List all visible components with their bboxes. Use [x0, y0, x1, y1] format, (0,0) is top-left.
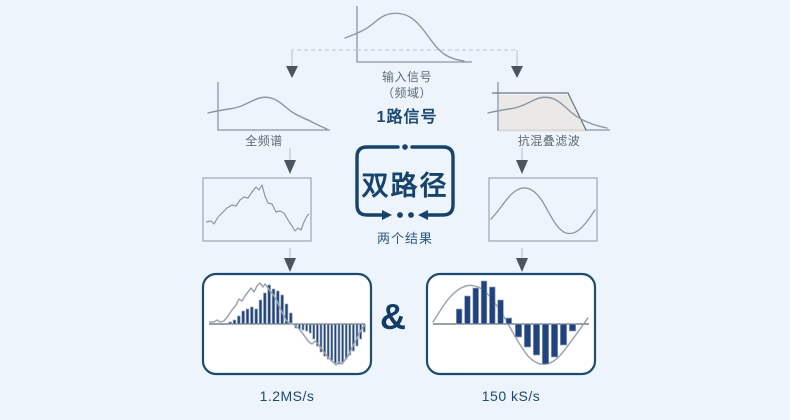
- badge-dot-2: [408, 212, 414, 218]
- noisy-waveform-box: [203, 178, 311, 241]
- low-rate-sampling-panel: [427, 274, 595, 374]
- arrow-to-right-box: [516, 148, 528, 174]
- low-rate-label: 150 kS/s: [441, 388, 581, 404]
- badge-dot-1: [397, 212, 403, 218]
- sample-bar: [263, 293, 266, 324]
- full-spectrum-chart: [208, 82, 330, 130]
- sample-bar: [489, 287, 495, 324]
- arrow-to-right-panel: [516, 248, 528, 272]
- sample-bar: [246, 309, 249, 324]
- sample-bar: [250, 307, 253, 324]
- dual-path-badge-label: 双路径: [355, 164, 455, 203]
- diagram-graphics: [0, 0, 790, 420]
- input-signal-caption-line2: （频域）: [337, 84, 477, 101]
- sample-bar: [331, 324, 333, 361]
- ampersand-separator: &: [380, 296, 406, 338]
- sample-bar: [481, 281, 487, 324]
- sample-bar: [259, 300, 262, 324]
- sample-bar: [473, 288, 479, 324]
- sample-bar: [551, 324, 557, 357]
- sample-bar: [524, 324, 530, 347]
- arrow-to-left-panel: [284, 248, 296, 272]
- sample-bar: [302, 324, 304, 330]
- sample-bar: [237, 316, 240, 324]
- diagram-canvas: 输入信号 （频域） 1路信号 全频谱 抗混叠滤波 双路径 两个结果 & 1.2M…: [0, 0, 790, 420]
- sample-bar: [338, 324, 340, 364]
- full-spectrum-label: 全频谱: [204, 132, 324, 149]
- badge-top-dot: [402, 144, 408, 150]
- sample-bar: [498, 300, 504, 324]
- sample-bar: [242, 311, 245, 324]
- sample-bar: [255, 309, 258, 324]
- sample-bar: [334, 324, 336, 363]
- arrow-right-branch: [511, 66, 523, 78]
- sample-bar: [506, 318, 512, 324]
- arrow-left-branch: [286, 66, 298, 78]
- high-rate-label: 1.2MS/s: [217, 388, 357, 404]
- arrow-to-left-box: [284, 148, 296, 174]
- anti-alias-filter-label: 抗混叠滤波: [484, 132, 614, 149]
- sample-bar: [229, 322, 232, 324]
- input-signal-chart: [345, 6, 472, 62]
- sample-bar: [342, 324, 344, 362]
- sample-bar: [456, 309, 462, 324]
- sample-bar: [306, 324, 308, 331]
- sample-bar: [309, 324, 311, 333]
- sample-bar: [289, 313, 292, 324]
- smooth-waveform-box: [489, 178, 597, 241]
- sample-bar: [345, 324, 347, 359]
- high-rate-sampling-panel: [203, 274, 371, 374]
- sample-bar: [327, 324, 329, 359]
- badge-arrow-left: [382, 210, 392, 220]
- sample-bar: [233, 320, 236, 324]
- sample-bar: [569, 324, 575, 331]
- sample-bar: [542, 324, 548, 364]
- badge-arrow-right: [418, 210, 428, 220]
- sample-bar: [465, 296, 471, 324]
- sample-bar: [515, 324, 521, 337]
- anti-alias-filter-chart: [488, 82, 610, 132]
- input-signal-caption-line1: 输入信号: [337, 68, 477, 85]
- sample-bar: [560, 324, 566, 345]
- sample-bar: [533, 324, 539, 355]
- sample-bar: [313, 324, 315, 339]
- one-channel-headline: 1路信号: [337, 103, 477, 127]
- two-results-label: 两个结果: [355, 228, 455, 247]
- sample-bar: [276, 291, 279, 324]
